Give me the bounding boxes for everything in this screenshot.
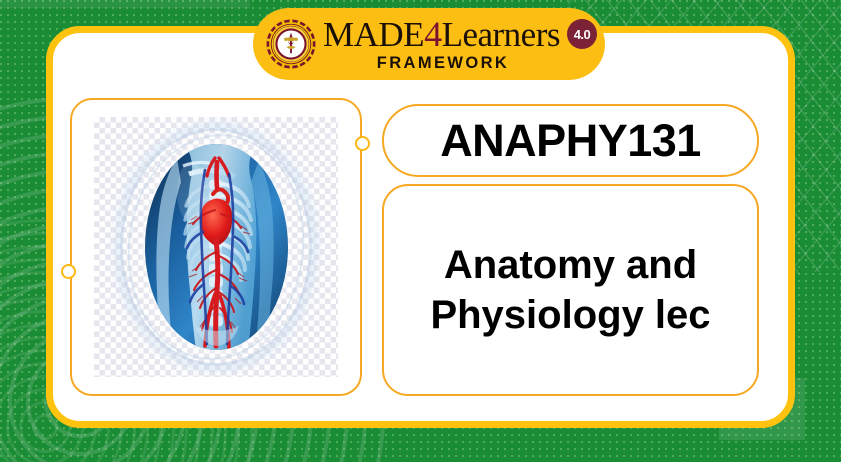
version-badge: 4.0 — [567, 19, 597, 49]
course-title-box: Anatomy and Physiology lec — [382, 184, 759, 396]
brand-made-text: MADE — [323, 17, 424, 52]
course-code-box: ANAPHY131 — [382, 104, 759, 177]
course-title-text: Anatomy and Physiology lec — [402, 240, 739, 341]
transparency-checkerboard — [94, 117, 338, 377]
brand-wordmark: MADE 4 Learners 4.0 — [323, 16, 597, 52]
course-image-panel — [70, 98, 362, 396]
slide-canvas: MADE 4 Learners 4.0 FRAMEWORK — [0, 0, 841, 462]
connector-dot-right — [355, 136, 370, 151]
university-seal-icon — [265, 18, 317, 70]
anatomy-illustration — [145, 144, 288, 350]
framework-banner: MADE 4 Learners 4.0 FRAMEWORK — [253, 8, 605, 80]
brand-learners-text: Learners — [442, 17, 560, 52]
brand-four-text: 4 — [424, 16, 442, 52]
course-code-text: ANAPHY131 — [440, 115, 701, 167]
framework-label: FRAMEWORK — [377, 55, 510, 72]
connector-dot-left — [61, 264, 76, 279]
card-content: ANAPHY131 Anatomy and Physiology lec — [46, 26, 795, 428]
background-band — [0, 0, 250, 8]
brand-lockup: MADE 4 Learners 4.0 FRAMEWORK — [323, 16, 597, 72]
